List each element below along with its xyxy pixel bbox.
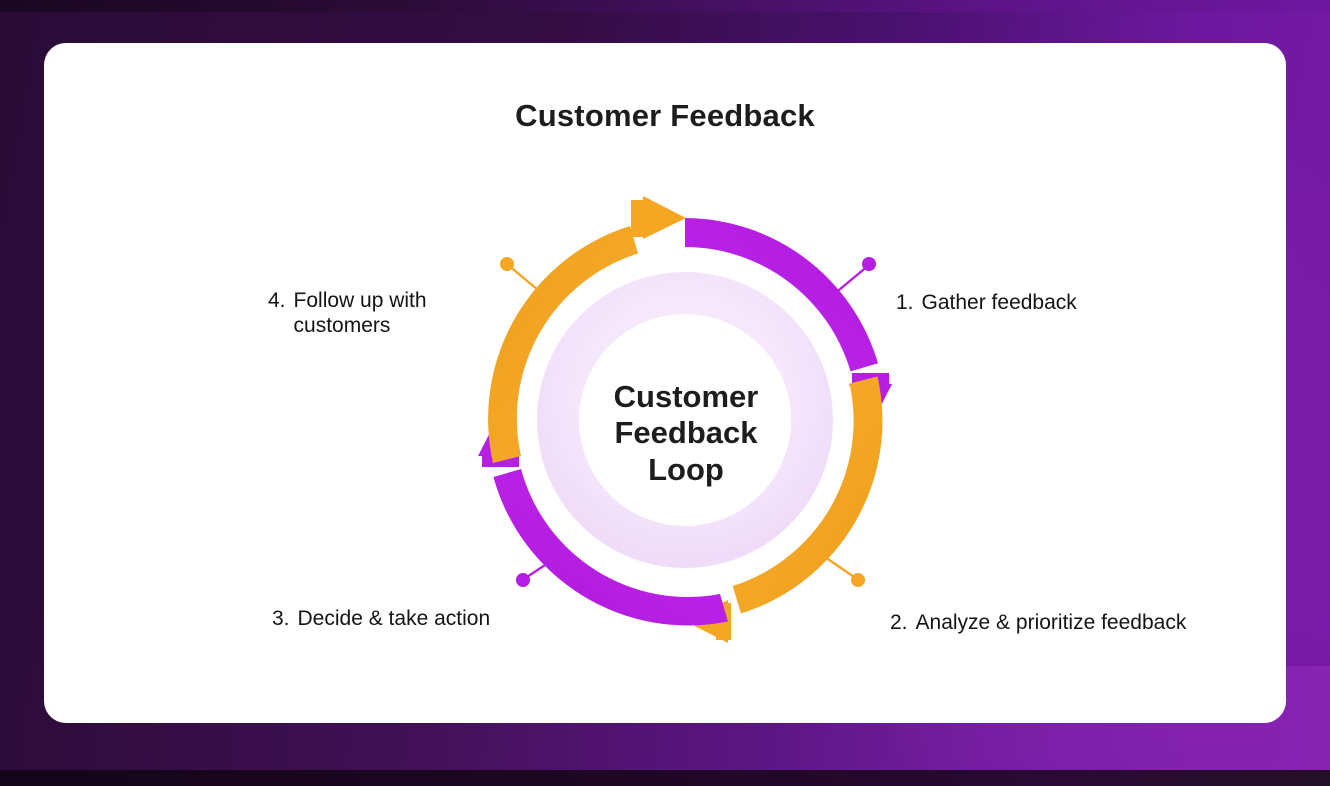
step-number-2: 2. [890,611,908,636]
center-label-line-3: Loop [556,452,816,488]
step-label-4: 4. Follow up with customers [268,289,518,339]
step-number-1: 1. [896,291,914,316]
background-edge-bottom [0,770,1330,786]
connector-dot-2 [851,573,865,587]
step-text-3: Decide & take action [298,607,522,632]
slide-card: Customer Feedback [44,43,1286,723]
arrowhead-top [643,196,686,239]
step-number-3: 3. [272,607,290,632]
center-label-line-1: Customer [556,379,816,415]
screenshot-root: Customer Feedback [0,0,1330,786]
connector-1 [833,257,876,295]
connector-2 [822,555,865,587]
center-label: Customer Feedback Loop [556,379,816,488]
step-text-2: Analyze & prioritize feedback [916,611,1190,636]
step-label-1: 1. Gather feedback [896,291,1196,316]
step-number-4: 4. [268,289,286,339]
background-edge-top [0,0,1330,12]
connector-dot-3 [516,573,530,587]
connector-dot-4 [500,257,514,271]
step-text-4: Follow up with customers [294,289,518,339]
center-label-line-2: Feedback [556,415,816,451]
connector-dot-1 [862,257,876,271]
step-text-1: Gather feedback [922,291,1196,316]
step-label-2: 2. Analyze & prioritize feedback [890,611,1190,636]
step-label-3: 3. Decide & take action [272,607,522,632]
cycle-diagram: Customer Feedback Loop 1. Gather feedbac… [44,43,1286,723]
